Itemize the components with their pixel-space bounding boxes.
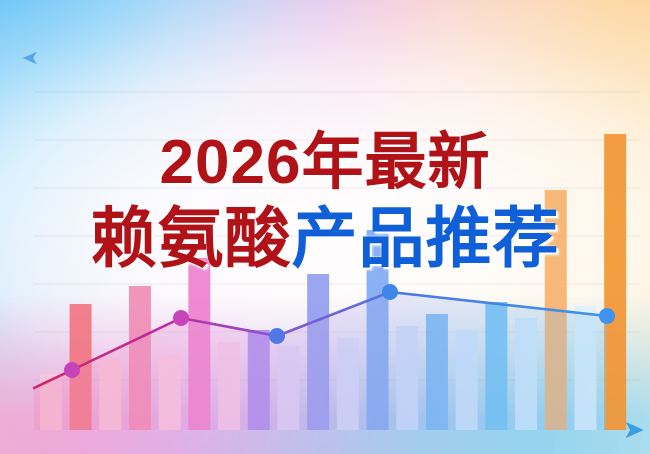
bar-line-chart bbox=[0, 0, 650, 454]
trend-marker bbox=[599, 308, 615, 324]
chart-area bbox=[0, 0, 650, 454]
trend-marker bbox=[382, 284, 398, 300]
chart-bar bbox=[604, 134, 626, 430]
trend-marker bbox=[269, 328, 285, 344]
poster-canvas: 2026年最新 赖氨酸产品推荐 bbox=[0, 0, 650, 454]
trend-marker bbox=[173, 310, 189, 326]
trend-marker bbox=[64, 362, 80, 378]
